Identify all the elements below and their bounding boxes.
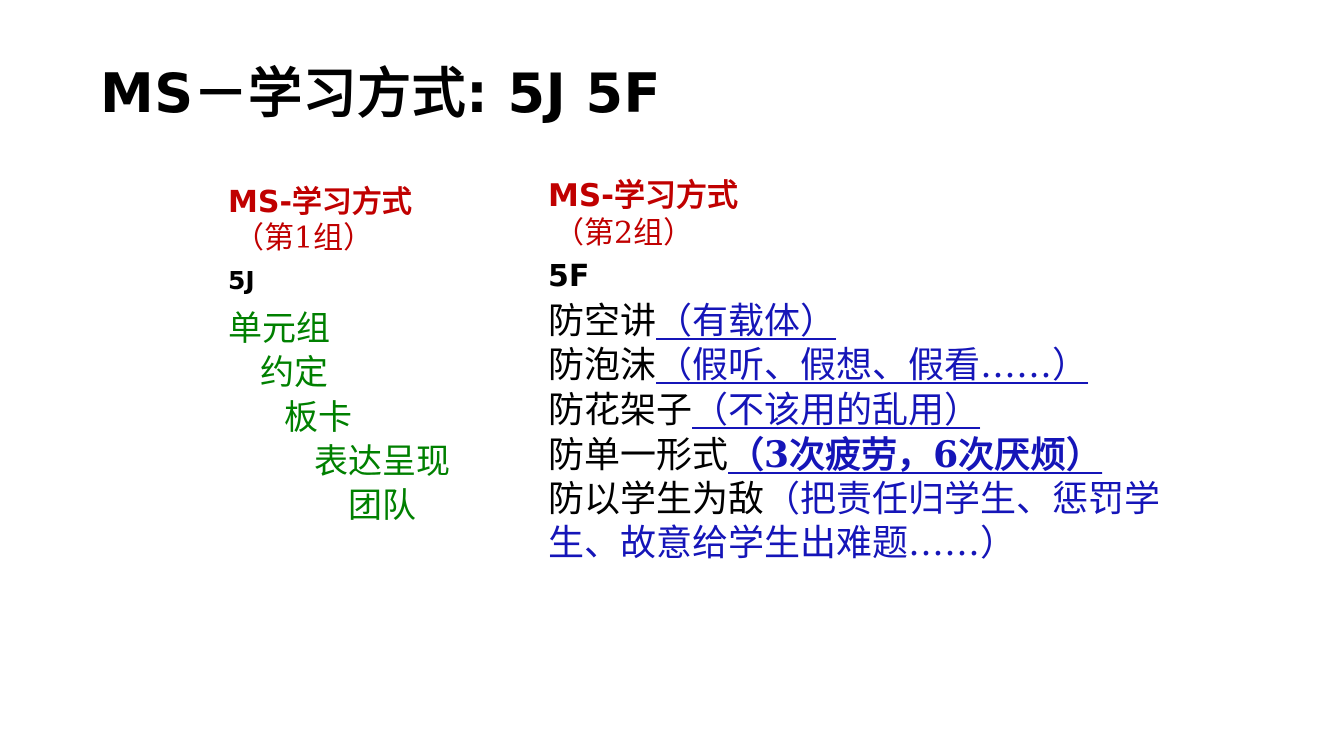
- rule-note: （不该用的乱用）: [692, 390, 980, 431]
- rule-term: 防以学生为敌: [548, 479, 764, 520]
- group-1-code-label: 5J: [228, 265, 528, 298]
- page-title: MS－学习方式: 5J 5F: [100, 66, 661, 123]
- list-item: 防单一形式（3次疲劳，6次厌烦）: [548, 433, 1168, 478]
- group-2-column: MS-学习方式 （第2组） 5F 防空讲（有载体） 防泡沫（假听、假想、假看………: [548, 178, 1168, 567]
- list-item: 单元组: [228, 307, 528, 351]
- rule-term: 防空讲: [548, 301, 656, 342]
- list-item: 防花架子（不该用的乱用）: [548, 389, 1168, 433]
- rule-term: 防花架子: [548, 390, 692, 431]
- rule-term: 防单一形式: [548, 435, 728, 476]
- group-2-heading: MS-学习方式: [548, 178, 1168, 215]
- rule-note: （有载体）: [656, 301, 836, 342]
- group-1-item-list: 单元组 约定 板卡 表达呈现 团队: [228, 307, 528, 528]
- rule-term: 防泡沫: [548, 345, 656, 386]
- rule-note: （3次疲劳，6次厌烦）: [728, 434, 1102, 476]
- list-item: 防以学生为敌（把责任归学生、惩罚学生、故意给学生出难题……）: [548, 478, 1168, 567]
- list-item: 防空讲（有载体）: [548, 300, 1168, 344]
- list-item: 团队: [228, 484, 528, 528]
- rule-note: （假听、假想、假看……）: [656, 345, 1088, 386]
- slide-canvas: MS－学习方式: 5J 5F MS-学习方式 （第1组） 5J 单元组 约定 板…: [0, 0, 1334, 751]
- list-item: 板卡: [228, 396, 528, 440]
- group-1-subheading: （第1组）: [228, 220, 528, 258]
- group-2-code-label: 5F: [548, 257, 1168, 296]
- list-item: 防泡沫（假听、假想、假看……）: [548, 344, 1168, 388]
- group-1-heading: MS-学习方式: [228, 185, 528, 220]
- group-1-column: MS-学习方式 （第1组） 5J 单元组 约定 板卡 表达呈现 团队: [228, 185, 528, 528]
- list-item: 表达呈现: [228, 440, 528, 484]
- group-2-item-list: 防空讲（有载体） 防泡沫（假听、假想、假看……） 防花架子（不该用的乱用） 防单…: [548, 300, 1168, 567]
- list-item: 约定: [228, 351, 528, 395]
- group-2-subheading: （第2组）: [548, 215, 1168, 253]
